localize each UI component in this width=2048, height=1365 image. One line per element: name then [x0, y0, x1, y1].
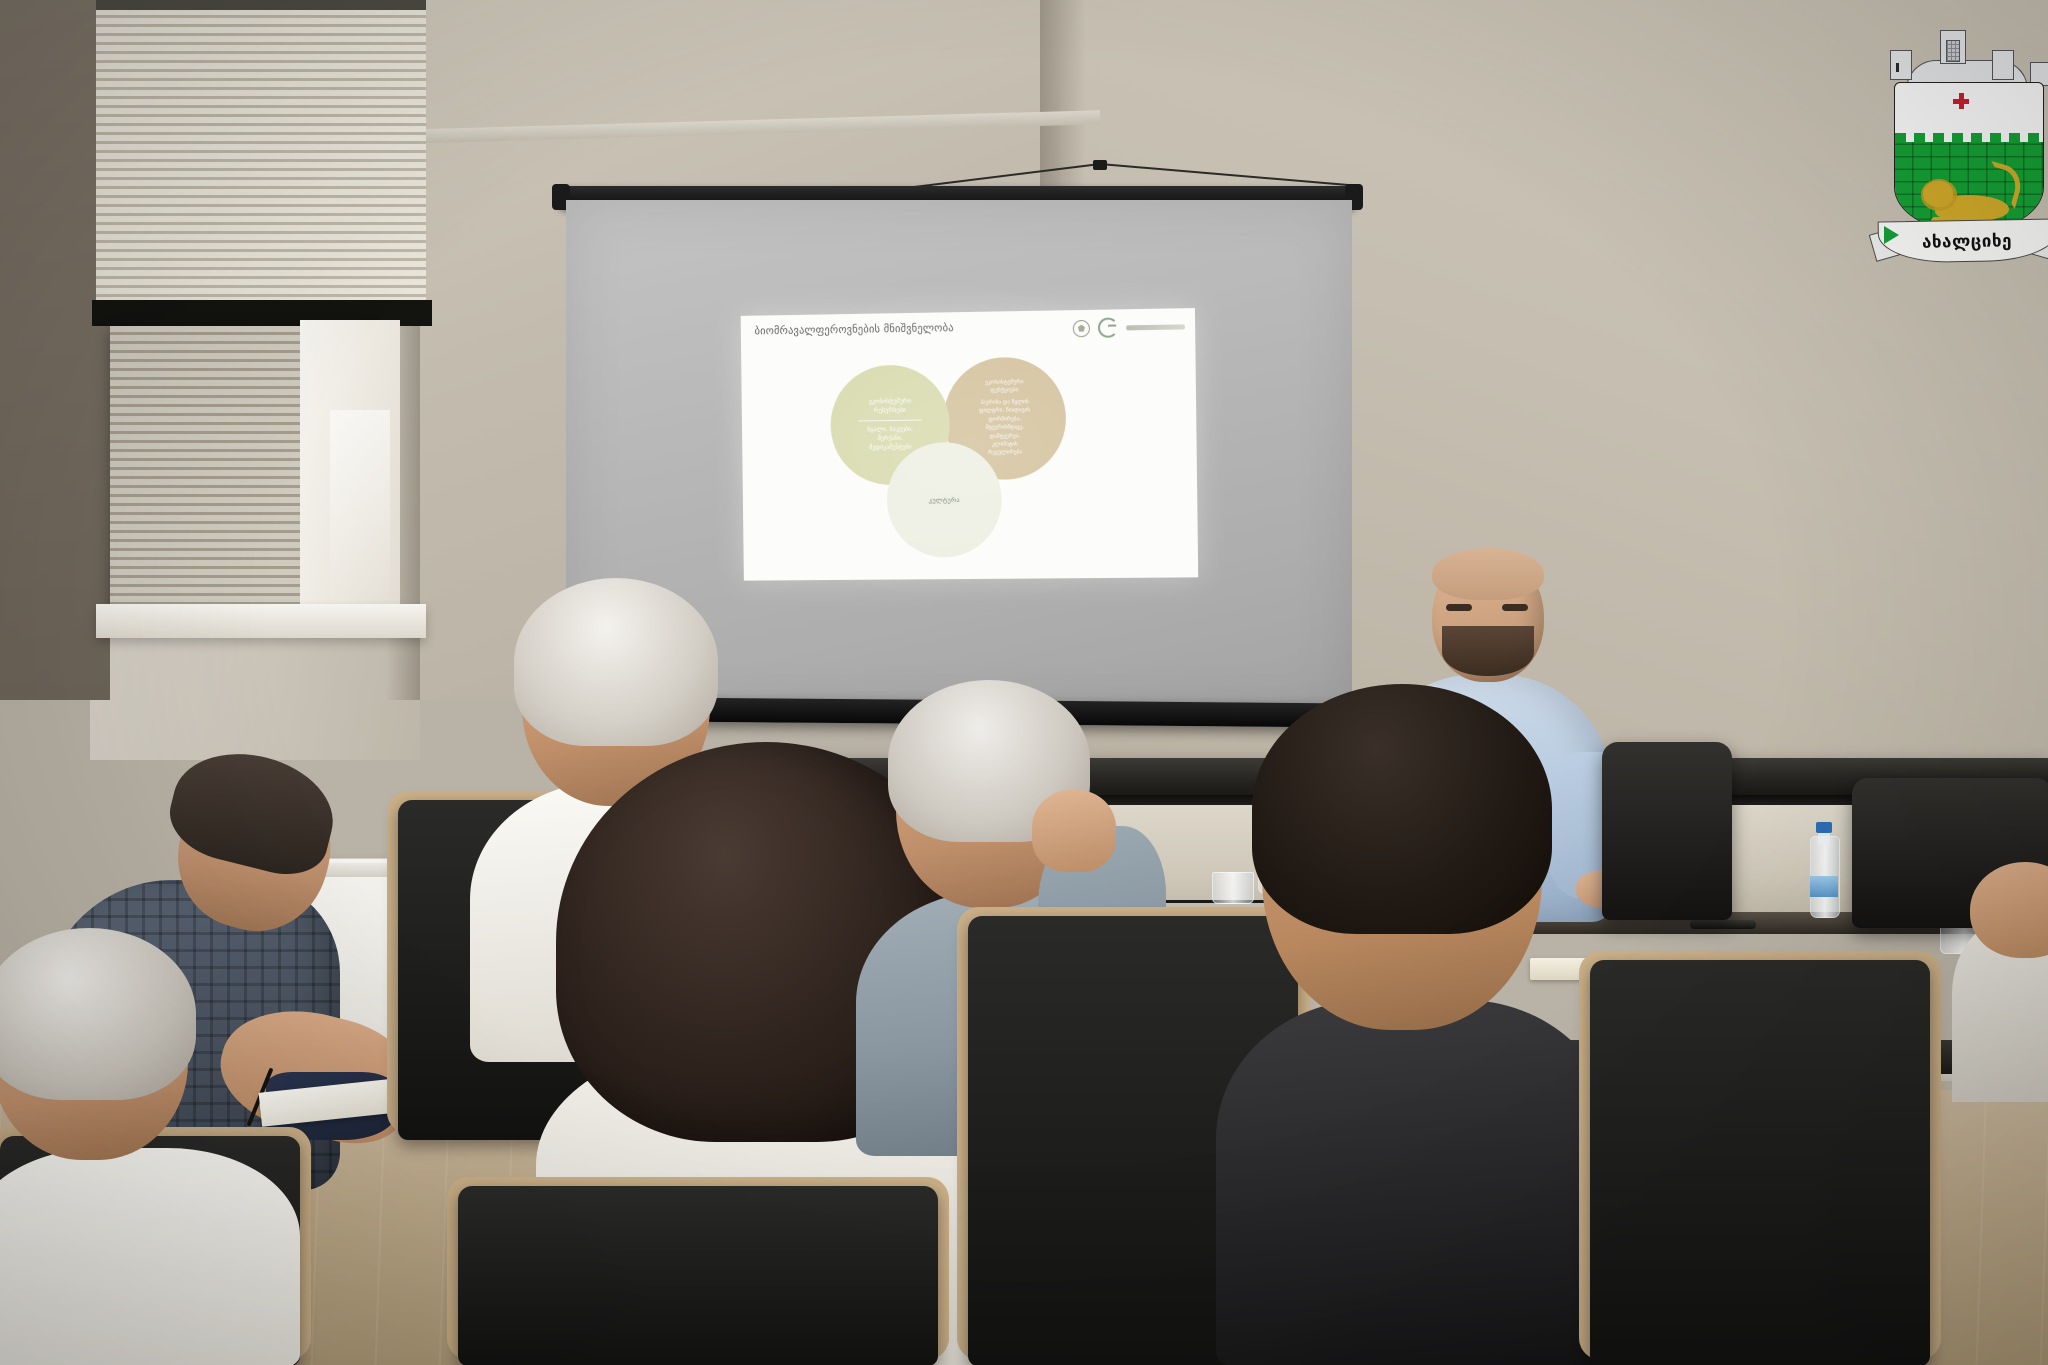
municipality-name: ახალციხე — [1872, 230, 2048, 253]
mural-crown-icon — [1884, 28, 2048, 90]
water-bottle[interactable] — [1810, 822, 1838, 918]
slide-logos — [1073, 316, 1185, 338]
venetian-blinds-upper[interactable] — [96, 0, 426, 318]
attendee-front-left-shirt — [0, 1148, 300, 1365]
circle-green-heading: ეკოსისტემურირესურსები — [857, 398, 923, 417]
circle-tan-body: ჰაერისა და წყლისფილტრი, ნიადაგისფორმირებ… — [970, 398, 1040, 458]
conference-room-photo: ახალციხე ბიომრავალფეროვნების მნიშვნელობა… — [0, 0, 2048, 1365]
presenter-beard — [1442, 626, 1534, 676]
circle-green-body: წყალი, საკვები,მერქანი,მედიკამენტები — [855, 425, 925, 453]
coat-of-arms-banner: ახალციხე — [1872, 210, 2048, 268]
crown-gate-icon — [1946, 40, 1960, 62]
projected-slide: ბიომრავალფეროვნების მნიშვნელობა ეკოსისტე… — [741, 308, 1199, 581]
attendee-right-hair — [1252, 684, 1552, 934]
attendee-center-hair — [514, 578, 718, 746]
coat-of-arms: ახალციხე — [1878, 4, 2048, 272]
chair[interactable] — [458, 1186, 938, 1365]
left-wall-edge — [0, 0, 110, 700]
circle-tan-heading: ეკოსისტემურიფუნქციები — [975, 379, 1034, 396]
circle-culture: კულტურა — [886, 442, 1002, 558]
attendee-front-left-hair — [0, 928, 196, 1100]
chair[interactable] — [1590, 960, 1930, 1365]
logo-wordmark — [1126, 324, 1185, 330]
attendee-grey-hair-hand — [1032, 790, 1116, 872]
window-light-spill — [330, 410, 390, 610]
ministry-emblem-icon — [1073, 319, 1090, 336]
executive-chair[interactable] — [1602, 742, 1732, 920]
red-cross-upper-icon — [1953, 93, 1969, 109]
microphone[interactable] — [1690, 920, 1756, 929]
green-initiative-logo-icon — [1098, 317, 1118, 337]
slide-title: ბიომრავალფეროვნების მნიშვნელობა — [755, 320, 1074, 337]
attendee-front-left — [0, 948, 300, 1365]
attendee-far-right — [1952, 862, 2048, 1102]
circle-cream-label: კულტურა — [929, 496, 960, 504]
presenter-scalp — [1432, 548, 1544, 600]
window-upper-frame — [96, 0, 426, 318]
attendee-right — [1216, 700, 1616, 1365]
attendee-right-shirt — [1216, 1000, 1616, 1365]
